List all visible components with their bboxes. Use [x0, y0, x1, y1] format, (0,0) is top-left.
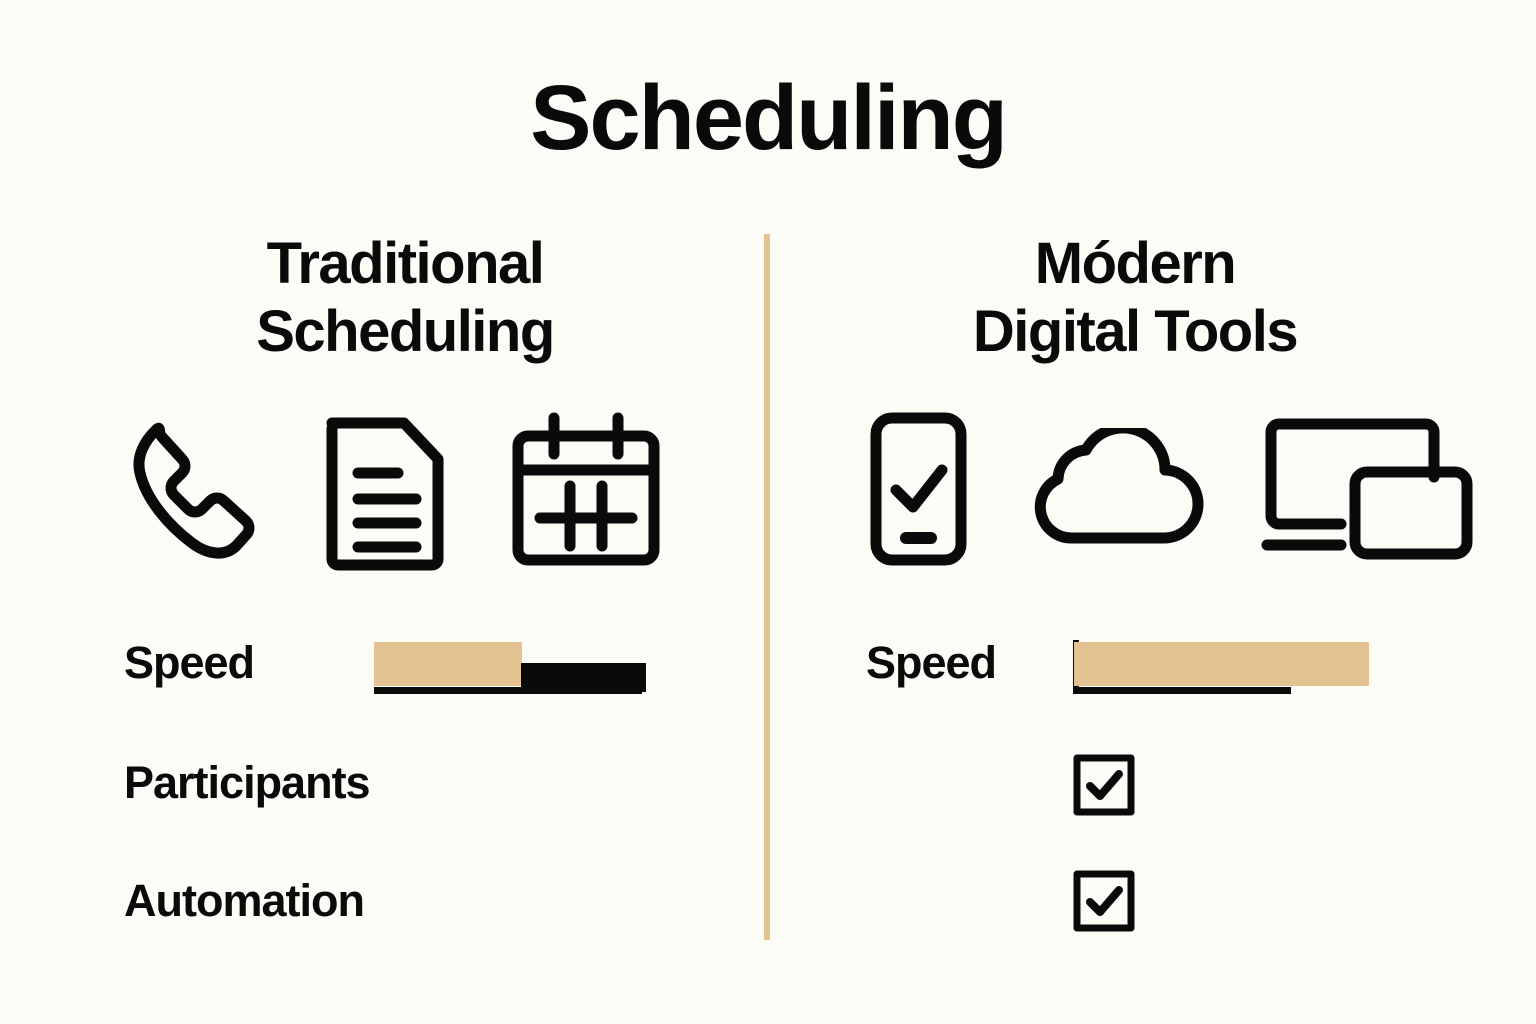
column-heading-traditional: Traditional Scheduling	[60, 230, 750, 367]
metric-label-participants-left: Participants	[124, 757, 370, 809]
speed-bar-fill-accent	[374, 642, 522, 686]
column-heading-modern: Módern Digital Tools	[790, 230, 1480, 367]
page-title: Scheduling	[0, 70, 1536, 167]
heading-line-1: Traditional	[267, 231, 544, 296]
speed-bar-modern	[1073, 640, 1369, 696]
metric-label-speed-right: Speed	[866, 637, 996, 689]
devices-icon	[1261, 414, 1476, 569]
document-icon	[320, 411, 450, 576]
column-modern: Módern Digital Tools	[790, 230, 1480, 367]
metric-label-speed-left: Speed	[124, 637, 254, 689]
speed-bar-traditional	[374, 640, 646, 696]
infographic-canvas: Scheduling Traditional Scheduling	[0, 0, 1536, 1024]
checkbox-automation[interactable]	[1073, 870, 1135, 932]
column-traditional: Traditional Scheduling	[60, 230, 750, 367]
calendar-icon	[506, 408, 666, 578]
mobile-check-icon	[866, 408, 971, 575]
speed-bar-fill-accent	[1074, 642, 1369, 686]
speed-bar-baseline	[374, 687, 642, 694]
vertical-divider	[764, 234, 770, 940]
icon-row-traditional	[124, 408, 684, 578]
heading-line-1: Módern	[1035, 231, 1235, 296]
heading-line-2: Scheduling	[60, 298, 750, 366]
speed-bar-baseline	[1073, 687, 1291, 694]
checkbox-participants[interactable]	[1073, 754, 1135, 816]
cloud-icon	[1027, 428, 1205, 555]
metric-label-automation-left: Automation	[124, 875, 364, 927]
icon-row-modern	[866, 408, 1436, 575]
phone-icon	[124, 415, 264, 572]
heading-line-2: Digital Tools	[790, 298, 1480, 366]
